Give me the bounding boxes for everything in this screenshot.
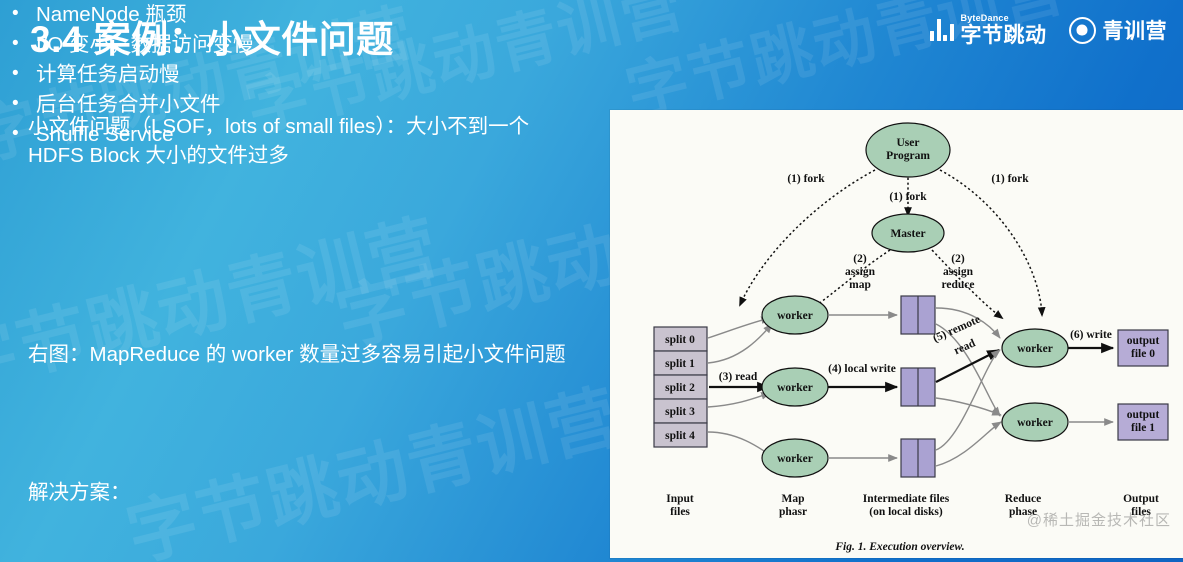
edge-label-write: (6) write [1070,329,1112,341]
edge-label-fork-left: (1) fork [787,173,825,185]
column-caption-input-1: Input [666,493,694,505]
reduce-worker-label-1: worker [1017,417,1053,429]
column-caption-intermediate-1: Intermediate files [863,493,950,505]
map-worker-label-0: worker [777,310,813,322]
figure-caption: Fig. 1. Execution overview. [834,541,964,553]
split-label-0: split 0 [665,334,695,346]
bullet-list-problems: NameNode 瓶颈 I/O 变小，数据访问变慢 计算任务启动慢 [0,0,560,90]
paragraph-figure-note: 右图：MapReduce 的 worker 数量过多容易引起小文件问题 [28,340,588,369]
column-caption-map-2: phasr [779,506,807,518]
column-caption-intermediate-2: (on local disks) [869,506,943,518]
column-caption-input-2: files [670,506,690,518]
figure-watermark: @稀土掘金技术社区 [1027,509,1171,530]
map-worker-label-2: worker [777,453,813,465]
edge-label-assign-reduce-2: assign [943,266,974,278]
edge-label-assign-reduce-3: reduce [941,279,974,291]
output-label-1-line2: file 1 [1131,422,1155,434]
user-program-label-line2: Program [886,150,930,162]
bytedance-logo-en: ByteDance [961,14,1047,23]
slide-canvas: 字节跳动青训营 字节跳动青训营 字节跳动青训营 字节跳动青训营 字节跳动青训营 … [0,0,1183,562]
column-caption-reduce-1: Reduce [1005,493,1041,505]
edge-label-fork-mid: (1) fork [889,191,927,203]
user-program-label-line1: User [897,137,920,149]
master-label: Master [890,228,925,240]
bytedance-logo-text: ByteDance 字节跳动 [961,14,1047,46]
background-watermark: 字节跳动青训营 [0,191,449,411]
reduce-worker-label-0: worker [1017,343,1053,355]
bytedance-logo: ByteDance 字节跳动 [930,14,1047,46]
split-label-4: split 4 [665,430,695,442]
qingxunying-logo: 青训营 [1069,15,1168,45]
edge-label-assign-map-3: map [849,279,871,291]
list-item: 后台任务合并小文件 [0,90,560,120]
bytedance-logo-cn: 字节跳动 [961,25,1047,46]
column-caption-output-1: Output [1123,493,1159,505]
paragraph-solutions-heading: 解决方案： [28,478,588,507]
intermediate-files-group [901,296,935,477]
background-watermark: 字节跳动青训营 [115,361,628,562]
output-label-0-line2: file 0 [1131,348,1155,360]
list-item: NameNode 瓶颈 [0,0,560,30]
split-label-1: split 1 [665,358,695,370]
output-files-group: output file 0 output file 1 [1118,330,1168,440]
split-label-3: split 3 [665,406,695,418]
edge-label-remote-read-1: (5) remote [931,313,982,345]
output-label-1-line1: output [1127,409,1160,421]
camp-circle-icon [1069,17,1096,44]
edge-label-assign-map-1: (2) [853,253,867,265]
column-caption-map-1: Map [782,493,805,505]
input-splits-group: split 0 split 1 split 2 split 3 split 4 [654,327,707,447]
bullet-list-solutions: 后台任务合并小文件 Shuffle Service [0,90,560,150]
edge-label-local-write: (4) local write [828,363,896,375]
mapreduce-execution-diagram: User Program Master (1) fork (1) fork (1… [610,110,1183,558]
split-label-2: split 2 [665,382,695,394]
bar-chart-icon [930,19,954,41]
edge-label-fork-right: (1) fork [991,173,1029,185]
brand-logo-bar: ByteDance 字节跳动 青训营 [930,10,1167,50]
output-label-0-line1: output [1127,335,1160,347]
edge-label-assign-reduce-1: (2) [951,253,965,265]
list-item: I/O 变小，数据访问变慢 [0,30,560,60]
map-worker-label-1: worker [777,382,813,394]
qingxunying-logo-cn: 青训营 [1103,15,1168,45]
list-item: 计算任务启动慢 [0,60,560,90]
edge-label-read: (3) read [719,371,758,383]
edge-label-assign-map-2: assign [845,266,876,278]
mapreduce-figure-panel: User Program Master (1) fork (1) fork (1… [610,110,1183,558]
list-item: Shuffle Service [0,120,560,150]
